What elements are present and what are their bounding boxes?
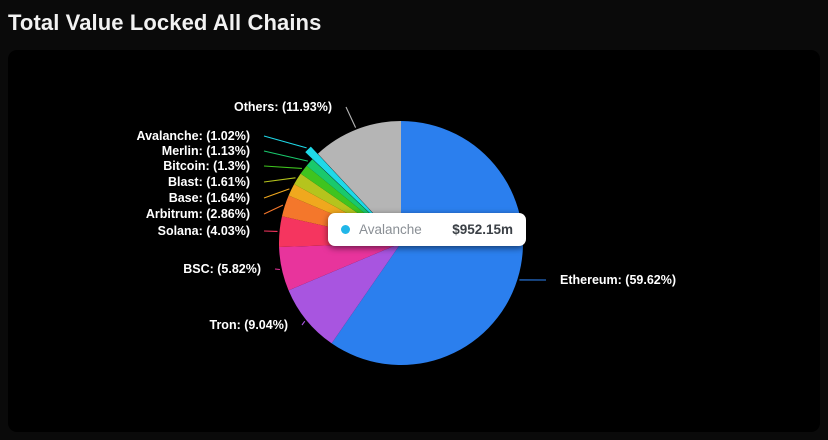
leader-line-merlin xyxy=(264,151,308,161)
leader-line-bsc xyxy=(275,269,280,270)
pie-label-bsc: BSC: (5.82%) xyxy=(183,262,261,276)
pie-label-blast: Blast: (1.61%) xyxy=(168,175,250,189)
pie-label-others: Others: (11.93%) xyxy=(234,100,332,114)
pie-label-ethereum: Ethereum: (59.62%) xyxy=(560,273,676,287)
chart-tooltip: Avalanche $952.15m xyxy=(328,213,526,246)
tvl-chart-app: Total Value Locked All Chains Ethereum: … xyxy=(0,0,828,440)
page-title: Total Value Locked All Chains xyxy=(8,8,321,38)
pie-label-tron: Tron: (9.04%) xyxy=(210,318,289,332)
leader-line-avalanche xyxy=(264,136,307,148)
pie-label-avalanche: Avalanche: (1.02%) xyxy=(137,129,250,143)
tooltip-series-name: Avalanche xyxy=(359,222,422,237)
chart-panel: Ethereum: (59.62%)Tron: (9.04%)BSC: (5.8… xyxy=(8,50,820,432)
leader-line-bitcoin xyxy=(264,166,302,168)
pie-label-solana: Solana: (4.03%) xyxy=(158,224,250,238)
pie-label-base: Base: (1.64%) xyxy=(169,191,250,205)
leader-line-base xyxy=(264,189,289,198)
leader-line-arbitrum xyxy=(264,205,283,214)
pie-label-bitcoin: Bitcoin: (1.3%) xyxy=(163,159,250,173)
leader-line-blast xyxy=(264,178,296,182)
pie-label-merlin: Merlin: (1.13%) xyxy=(162,144,250,158)
pie-label-arbitrum: Arbitrum: (2.86%) xyxy=(146,207,250,221)
bullet-dot-icon xyxy=(341,225,350,234)
leader-line-others xyxy=(346,107,356,128)
leader-line-tron xyxy=(302,321,305,325)
tooltip-series-value: $952.15m xyxy=(452,222,513,237)
